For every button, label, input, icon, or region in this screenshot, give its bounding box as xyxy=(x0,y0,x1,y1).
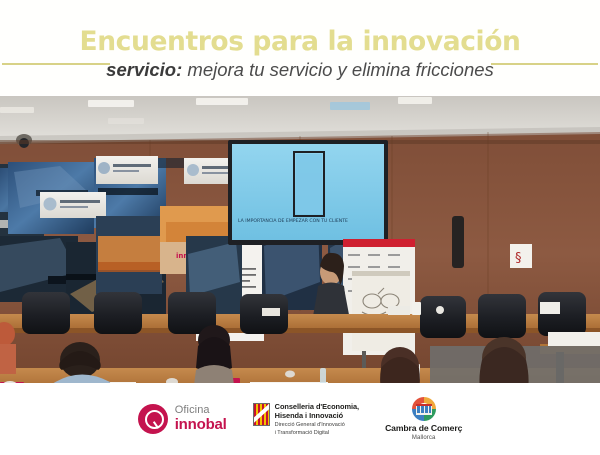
logo-oficina-innobal: Oficina innobal xyxy=(138,404,227,434)
subtitle-rest: mejora tu servicio y elimina fricciones xyxy=(182,59,494,80)
footer-logos: Oficina innobal Conselleria d'Economia, … xyxy=(0,383,600,455)
innobal-line2: innobal xyxy=(175,417,227,433)
header-band: Encuentros para la innovación servicio: … xyxy=(0,0,600,95)
wall-speaker xyxy=(452,216,464,268)
slide-page: Encuentros para la innovación servicio: … xyxy=(0,0,600,455)
cambra-line2: Mallorca xyxy=(385,435,462,442)
conference-room-photo: innobal xyxy=(0,96,600,383)
cambra-emblem-icon xyxy=(409,396,439,422)
page-title: Encuentros para la innovación xyxy=(0,29,600,56)
svg-text:§: § xyxy=(515,251,522,266)
svg-text:LA IMPORTANCIA DE EMPEZAR CON: LA IMPORTANCIA DE EMPEZAR CON TU CLIENTE xyxy=(238,218,348,224)
photo-illustration: innobal xyxy=(0,96,600,383)
conselleria-line4: i Transformació Digital xyxy=(275,430,359,437)
logo-conselleria: Conselleria d'Economia, Hisenda i Innova… xyxy=(253,401,359,437)
conselleria-line3: Direcció General d'Innovació xyxy=(275,422,359,429)
govern-shield-icon xyxy=(253,403,270,426)
cambra-line1: Cambra de Comerç xyxy=(385,424,462,433)
page-subtitle: servicio: mejora tu servicio y elimina f… xyxy=(0,60,600,80)
logo-cambra-de-comerc: Cambra de Comerç Mallorca xyxy=(385,396,462,441)
innobal-mark-icon xyxy=(138,404,168,434)
conselleria-line2: Hisenda i Innovació xyxy=(275,412,359,421)
subtitle-lead: servicio: xyxy=(106,59,182,80)
